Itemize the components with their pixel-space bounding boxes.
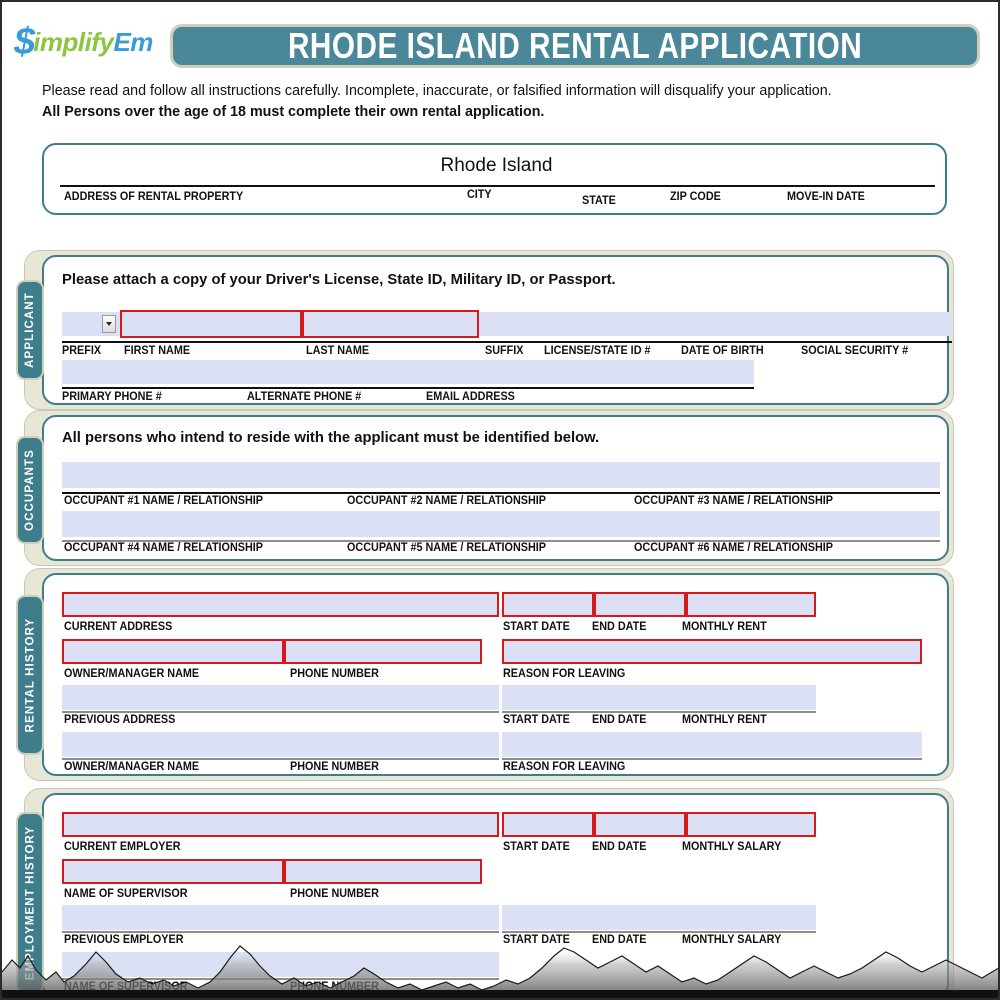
label-rental-current-monthly-rent: MONTHLY RENT <box>682 621 767 633</box>
rental-previous-dates-strip[interactable] <box>502 685 816 710</box>
previous-supervisor-input[interactable] <box>62 952 499 977</box>
label-address-of-rental-property: ADDRESS OF RENTAL PROPERTY <box>64 191 243 203</box>
employment-current-monthly-salary-input[interactable] <box>686 812 816 837</box>
rental-current-reason-leaving-input[interactable] <box>502 639 922 664</box>
applicant-heading: Please attach a copy of your Driver's Li… <box>62 271 616 288</box>
label-previous-supervisor-phone: PHONE NUMBER <box>290 981 379 993</box>
supervisor-phone-input[interactable] <box>284 859 482 884</box>
label-rental-previous-owner-manager: OWNER/MANAGER NAME <box>64 761 199 773</box>
current-employer-input[interactable] <box>62 812 499 837</box>
label-move-in-date: MOVE-IN DATE <box>787 191 865 203</box>
rental-previous-owner-divider <box>62 758 499 760</box>
applicant-row2-field-strip[interactable] <box>62 360 754 384</box>
previous-supervisor-divider <box>62 978 499 980</box>
label-employment-previous-end-date: END DATE <box>592 934 646 946</box>
label-prefix: PREFIX <box>62 345 101 357</box>
page-header: $implifyEm RHODE ISLAND RENTAL APPLICATI… <box>2 2 1000 78</box>
label-city: CITY <box>467 189 492 201</box>
label-rental-previous-start-date: START DATE <box>503 714 570 726</box>
occupants-row1-field-strip[interactable] <box>62 462 940 488</box>
employment-previous-dates-divider <box>502 931 816 933</box>
logo-simplify-text: implify <box>33 29 113 55</box>
rental-current-monthly-rent-input[interactable] <box>686 592 816 617</box>
rental-previous-reason-divider <box>502 758 922 760</box>
label-previous-supervisor: NAME OF SUPERVISOR <box>64 981 188 993</box>
label-last-name: LAST NAME <box>306 345 369 357</box>
applicant-row1-divider <box>62 341 952 343</box>
instructions-block: Please read and follow all instructions … <box>42 82 962 122</box>
last-name-input[interactable] <box>302 310 479 338</box>
instructions-line-2: All Persons over the age of 18 must comp… <box>42 103 948 122</box>
rental-current-end-date-input[interactable] <box>594 592 686 617</box>
label-employment-previous-start-date: START DATE <box>503 934 570 946</box>
sidebar-item-applicant-label: APPLICANT <box>24 292 36 368</box>
page-title: RHODE ISLAND RENTAL APPLICATION <box>288 25 862 67</box>
employment-history-section: CURRENT EMPLOYER START DATE END DATE MON… <box>42 793 949 998</box>
sidebar-item-employment-history[interactable]: EMPLOYMENT HISTORY <box>16 812 44 994</box>
employment-current-end-date-input[interactable] <box>594 812 686 837</box>
sidebar-item-occupants-label: OCCUPANTS <box>24 449 36 531</box>
label-current-employer: CURRENT EMPLOYER <box>64 841 181 853</box>
rental-previous-reason-leaving-input[interactable] <box>502 732 922 757</box>
label-occupant-4: OCCUPANT #4 NAME / RELATIONSHIP <box>64 542 263 554</box>
employment-previous-dates-strip[interactable] <box>502 905 816 930</box>
label-employment-current-start-date: START DATE <box>503 841 570 853</box>
sidebar-item-rental-history-label: RENTAL HISTORY <box>24 618 36 733</box>
simplifyem-logo: $implifyEm <box>14 22 160 62</box>
rental-current-phone-input[interactable] <box>284 639 482 664</box>
sidebar-item-rental-history[interactable]: RENTAL HISTORY <box>16 595 44 755</box>
label-rental-current-end-date: END DATE <box>592 621 646 633</box>
first-name-input[interactable] <box>120 310 302 338</box>
label-primary-phone: PRIMARY PHONE # <box>62 391 162 403</box>
label-rental-current-phone: PHONE NUMBER <box>290 668 379 680</box>
applicant-section: Please attach a copy of your Driver's Li… <box>42 255 949 405</box>
label-rental-current-start-date: START DATE <box>503 621 570 633</box>
previous-employer-input[interactable] <box>62 905 499 930</box>
label-email-address: EMAIL ADDRESS <box>426 391 515 403</box>
label-name-of-supervisor: NAME OF SUPERVISOR <box>64 888 188 900</box>
label-rental-previous-end-date: END DATE <box>592 714 646 726</box>
sidebar-item-employment-history-label: EMPLOYMENT HISTORY <box>24 826 36 981</box>
label-rental-previous-phone: PHONE NUMBER <box>290 761 379 773</box>
prefix-dropdown-arrow-icon[interactable] <box>102 315 116 333</box>
label-supervisor-phone: PHONE NUMBER <box>290 888 379 900</box>
label-employment-current-monthly-salary: MONTHLY SALARY <box>682 841 781 853</box>
rental-previous-owner-manager-input[interactable] <box>62 732 499 757</box>
label-rental-previous-reason-leaving: REASON FOR LEAVING <box>503 761 625 773</box>
occupants-row2-field-strip[interactable] <box>62 511 940 537</box>
rental-property-section: Rhode Island ADDRESS OF RENTAL PROPERTY … <box>42 143 947 215</box>
label-state: STATE <box>582 195 616 207</box>
label-occupant-1: OCCUPANT #1 NAME / RELATIONSHIP <box>64 495 263 507</box>
state-value: Rhode Island <box>44 155 949 177</box>
logo-dollar-icon: $ <box>14 23 33 61</box>
previous-address-divider <box>62 711 499 713</box>
label-current-address: CURRENT ADDRESS <box>64 621 172 633</box>
label-license-state-id: LICENSE/STATE ID # <box>544 345 651 357</box>
instructions-line-1: Please read and follow all instructions … <box>42 82 948 101</box>
rental-application-page: $implifyEm RHODE ISLAND RENTAL APPLICATI… <box>0 0 1000 1000</box>
occupants-heading: All persons who intend to reside with th… <box>62 429 599 446</box>
previous-employer-divider <box>62 931 499 933</box>
label-social-security: SOCIAL SECURITY # <box>801 345 908 357</box>
label-rental-current-owner-manager: OWNER/MANAGER NAME <box>64 668 199 680</box>
label-zip-code: ZIP CODE <box>670 191 721 203</box>
sidebar-item-applicant[interactable]: APPLICANT <box>16 280 44 380</box>
title-bar: RHODE ISLAND RENTAL APPLICATION <box>170 24 980 68</box>
label-occupant-6: OCCUPANT #6 NAME / RELATIONSHIP <box>634 542 833 554</box>
supervisor-name-input[interactable] <box>62 859 284 884</box>
label-previous-address: PREVIOUS ADDRESS <box>64 714 175 726</box>
rental-history-section: CURRENT ADDRESS START DATE END DATE MONT… <box>42 573 949 776</box>
previous-address-input[interactable] <box>62 685 499 710</box>
employment-current-start-date-input[interactable] <box>502 812 594 837</box>
current-address-input[interactable] <box>62 592 499 617</box>
label-rental-previous-monthly-rent: MONTHLY RENT <box>682 714 767 726</box>
label-occupant-5: OCCUPANT #5 NAME / RELATIONSHIP <box>347 542 546 554</box>
rental-current-start-date-input[interactable] <box>502 592 594 617</box>
label-employment-current-end-date: END DATE <box>592 841 646 853</box>
label-occupant-2: OCCUPANT #2 NAME / RELATIONSHIP <box>347 495 546 507</box>
logo-em-text: Em <box>113 29 152 55</box>
rental-previous-dates-divider <box>502 711 816 713</box>
label-previous-employer: PREVIOUS EMPLOYER <box>64 934 184 946</box>
applicant-row2-divider <box>62 387 754 389</box>
label-alternate-phone: ALTERNATE PHONE # <box>247 391 361 403</box>
rental-current-owner-manager-input[interactable] <box>62 639 284 664</box>
label-rental-current-reason-leaving: REASON FOR LEAVING <box>503 668 625 680</box>
occupants-section: All persons who intend to reside with th… <box>42 415 949 561</box>
label-date-of-birth: DATE OF BIRTH <box>681 345 764 357</box>
property-divider <box>60 185 935 187</box>
occupants-row1-divider <box>62 492 940 494</box>
label-occupant-3: OCCUPANT #3 NAME / RELATIONSHIP <box>634 495 833 507</box>
label-first-name: FIRST NAME <box>124 345 190 357</box>
label-employment-previous-monthly-salary: MONTHLY SALARY <box>682 934 781 946</box>
sidebar-item-occupants[interactable]: OCCUPANTS <box>16 436 44 544</box>
label-suffix: SUFFIX <box>485 345 523 357</box>
